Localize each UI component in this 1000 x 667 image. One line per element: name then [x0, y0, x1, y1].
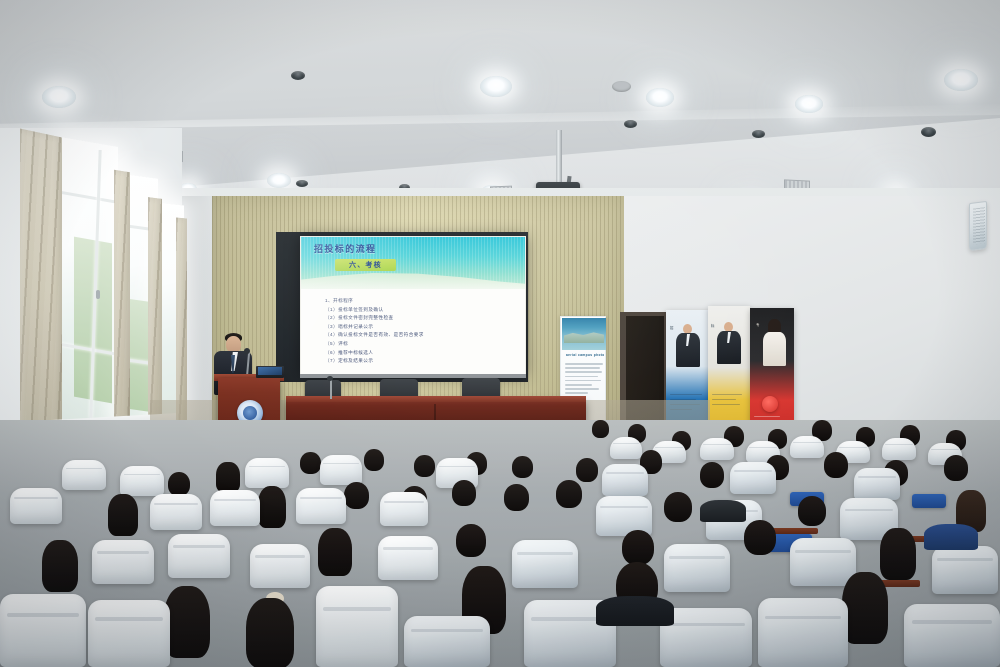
audience-head: [664, 492, 692, 522]
poster-text-line: [565, 388, 599, 390]
banner-label: 招: [670, 325, 674, 330]
poster-title: aerial campus photo: [566, 353, 604, 357]
slide-bullet: （4）确认投标文件是否有效、是否符合要求: [325, 331, 515, 340]
podium-microphone-head: [244, 348, 250, 354]
poster-text-line: [565, 367, 600, 369]
banner-portrait-body: [763, 332, 786, 366]
audience-seat: [404, 616, 490, 667]
poster-text-line: [565, 384, 592, 386]
audience-head: [744, 520, 776, 555]
audience-seat: [904, 604, 1000, 667]
audience-head: [168, 472, 190, 496]
audience-head: [164, 586, 210, 658]
audience-seat: [150, 494, 202, 530]
projection-screen: 招投标的流程 六、考核 1、开标程序 （1）投标单位签到及确认 （2）投标文件密…: [300, 236, 526, 376]
window-curtain: [20, 129, 62, 438]
poster-text-line: [565, 371, 602, 373]
poster-text-line: [565, 363, 603, 365]
audience-head: [880, 528, 916, 580]
banner-text-line: [712, 394, 742, 395]
audience-seat: [380, 492, 428, 526]
banner-label: 标: [711, 323, 715, 328]
audience-head: [364, 449, 384, 471]
slide-bullet: （1）投标单位签到及确认: [325, 306, 515, 315]
slide-bullet: （2）投标文件密封完整性检查: [325, 314, 515, 323]
ceiling-downlight: [267, 173, 291, 188]
audience-head: [576, 458, 598, 482]
audience-head: [622, 530, 654, 565]
audience-seat: [250, 544, 310, 588]
audience-head: [344, 482, 369, 509]
window-curtain: [114, 170, 130, 435]
slide-bullet-list: 1、开标程序 （1）投标单位签到及确认 （2）投标文件密封完整性检查 （3）唱标…: [325, 297, 515, 366]
audience-head: [258, 486, 286, 528]
ceiling-spotlight: [296, 180, 308, 187]
ceiling-downlight: [646, 88, 674, 107]
audience-seat: [378, 536, 438, 580]
slide-bullet: （5）评标: [325, 340, 515, 349]
audience-seat: [730, 462, 776, 494]
ceiling-spotlight: [624, 120, 637, 128]
audience-seat: [120, 466, 164, 496]
table-microphone-stem: [330, 380, 332, 399]
audience-seat: [610, 437, 642, 459]
audience-shoulders: [596, 596, 674, 626]
wall-speaker: [969, 201, 987, 251]
slide-header-band: 招投标的流程 六、考核: [301, 237, 525, 289]
audience-head: [300, 452, 321, 474]
laptop-screen: [258, 367, 282, 375]
university-seal-inner: [243, 406, 257, 420]
audience-seat: [932, 546, 998, 594]
audience-head: [944, 455, 968, 481]
audience-seat: [700, 438, 734, 460]
ceiling-spotlight: [291, 71, 305, 80]
audience-seat: [62, 460, 106, 490]
audience-head: [108, 494, 138, 536]
audience-seat: [92, 540, 154, 584]
audience-head: [42, 540, 78, 592]
projector-mount-pole: [556, 130, 562, 186]
audience-seat: [602, 464, 648, 496]
audience-head: [824, 452, 848, 478]
audience-shoulders: [924, 524, 978, 550]
audience-seat: [790, 436, 824, 458]
banner-red-seal: [762, 396, 778, 412]
audience-seat: [512, 540, 578, 588]
audience-shoulders: [700, 500, 746, 522]
audience-head: [216, 462, 240, 492]
poster-text-line: [565, 376, 598, 378]
audience-head: [452, 480, 476, 506]
audience-seat: [320, 455, 362, 485]
slide-bullet: （7）定标及结果公示: [325, 357, 515, 366]
poster-text-line: [565, 392, 588, 394]
slide-bullet: （6）推荐中标候选人: [325, 349, 515, 358]
banner-label: 专: [756, 322, 760, 327]
ceiling-downlight: [795, 95, 823, 113]
slide-bullet: （3）唱标并记录公示: [325, 323, 515, 332]
audience-head: [504, 484, 529, 511]
audience-head: [456, 524, 486, 557]
seat-base: [912, 494, 946, 508]
audience-head: [700, 462, 724, 488]
ceiling-spotlight: [752, 130, 765, 138]
audience-head: [512, 456, 533, 478]
audience-seat: [316, 586, 398, 667]
audience-seat: [245, 458, 289, 488]
banner-text-line: [712, 404, 740, 405]
audience-seat: [0, 594, 86, 667]
audience-seat: [10, 488, 62, 524]
ceiling-downlight: [480, 76, 512, 97]
audience-seat: [758, 598, 848, 667]
slide-bullet: 1、开标程序: [325, 297, 515, 306]
ceiling-downlight: [42, 86, 76, 108]
audience-head: [798, 496, 826, 526]
audience-head: [318, 528, 352, 576]
banner-text-line: [670, 394, 702, 395]
poster-photo: [562, 318, 606, 350]
audience-seat: [854, 468, 900, 500]
audience-head: [246, 598, 294, 667]
slide-title: 招投标的流程: [314, 242, 376, 255]
ceiling-spotlight: [921, 127, 936, 137]
audience-head: [414, 455, 435, 477]
lecture-hall-photo: 招投标的流程 六、考核 1、开标程序 （1）投标单位签到及确认 （2）投标文件密…: [0, 0, 1000, 667]
audience-seat: [882, 438, 916, 460]
poster-text-line: [565, 380, 601, 382]
audience-seat: [168, 534, 230, 578]
audience-head: [556, 480, 582, 508]
audience-head: [592, 420, 609, 438]
audience-seat: [88, 600, 170, 667]
banner-text-line: [754, 416, 780, 417]
slide-subtitle-badge: 六、考核: [335, 259, 396, 271]
table-microphone-head: [327, 376, 333, 381]
audience-seat: [296, 488, 346, 524]
smoke-detector: [612, 81, 631, 92]
audience-seat: [664, 544, 730, 592]
audience-seat: [210, 490, 260, 526]
audience-head: [842, 572, 888, 644]
window-latch: [96, 290, 100, 299]
ceiling-downlight: [944, 69, 978, 91]
banner-text-line: [712, 399, 736, 400]
audience-seat: [790, 538, 856, 586]
speaker-grill: [973, 207, 985, 244]
poster-body-text: [565, 363, 603, 397]
